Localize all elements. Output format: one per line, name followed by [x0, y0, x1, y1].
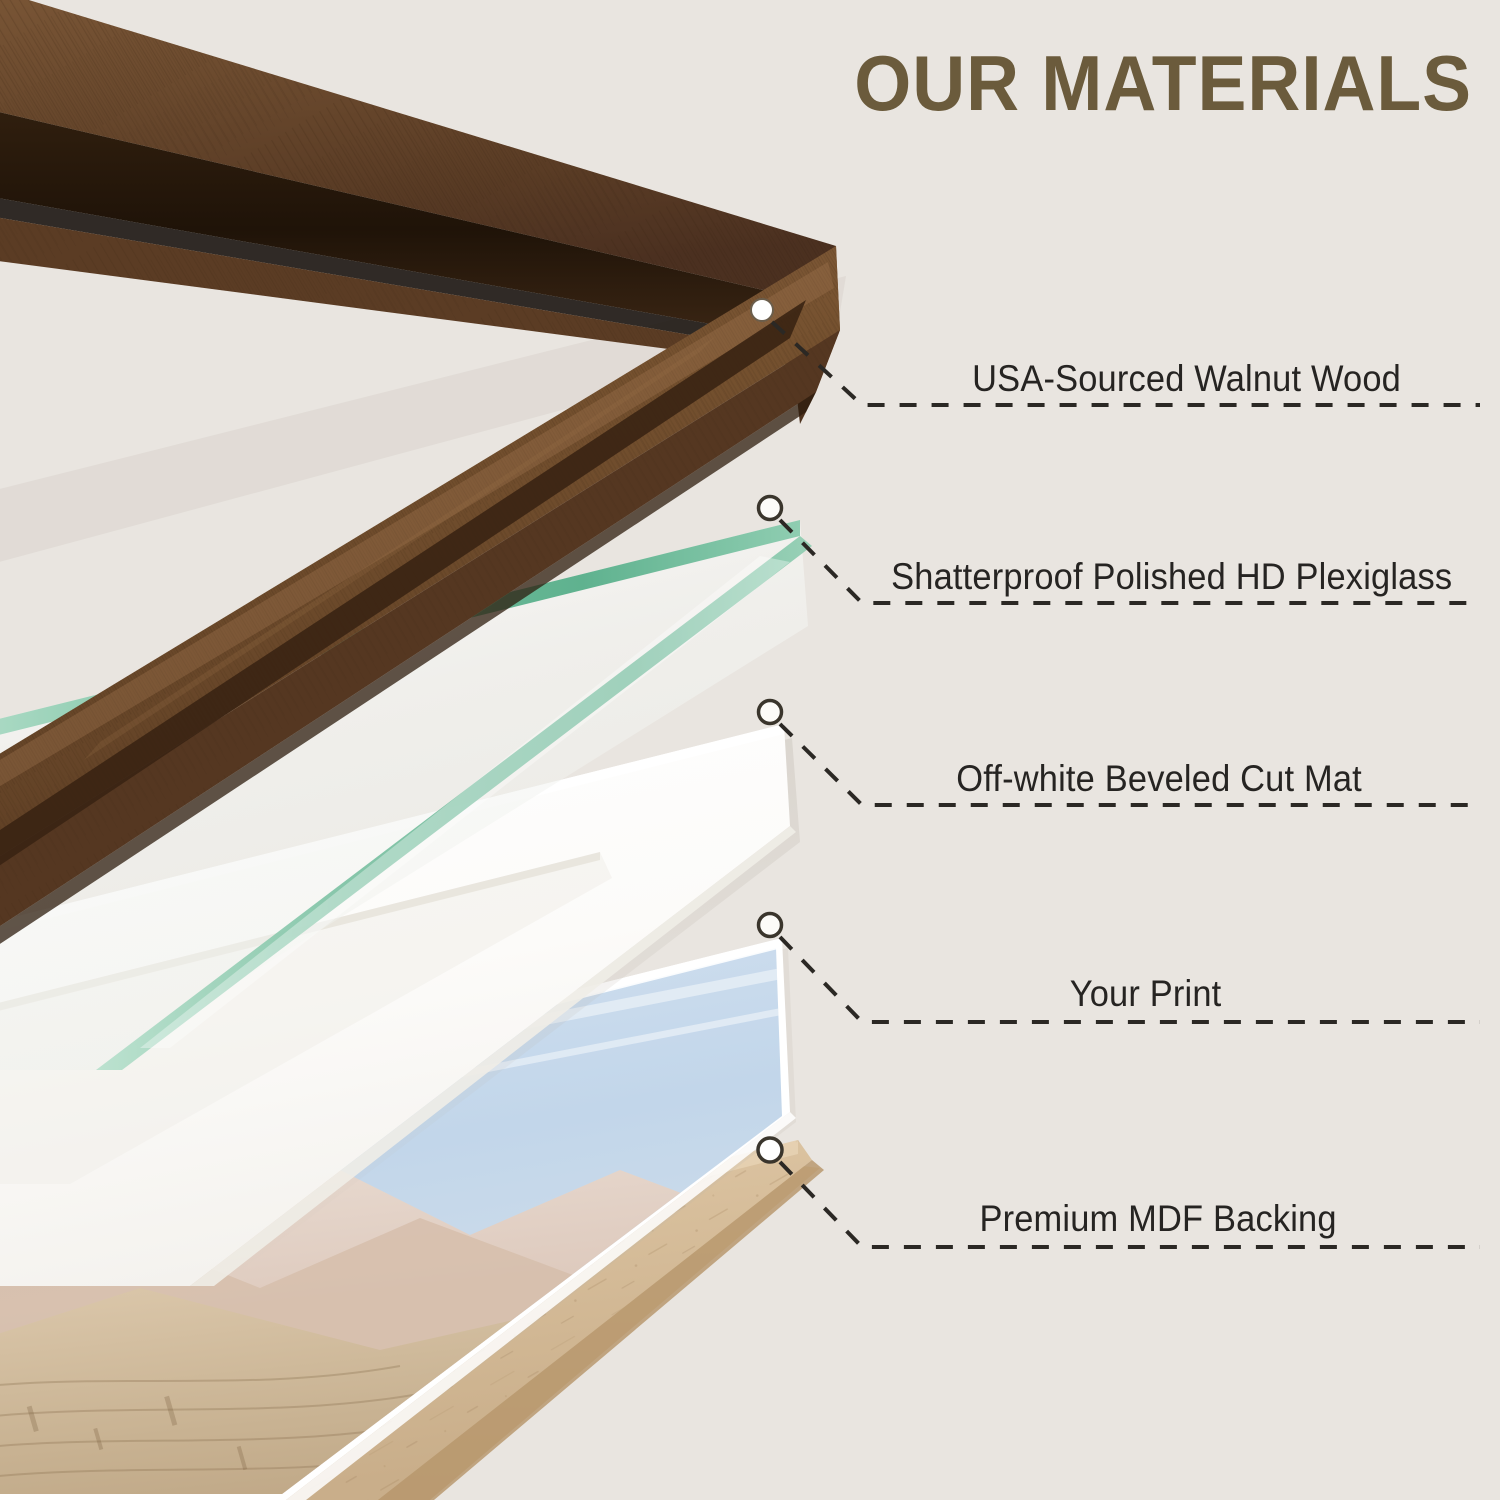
infographic-canvas: OUR MATERIALS USA-Sourced Walnut Wood Sh…: [0, 0, 1500, 1500]
page-title: OUR MATERIALS: [803, 44, 1472, 122]
exploded-frame-illustration: [0, 0, 1500, 1500]
